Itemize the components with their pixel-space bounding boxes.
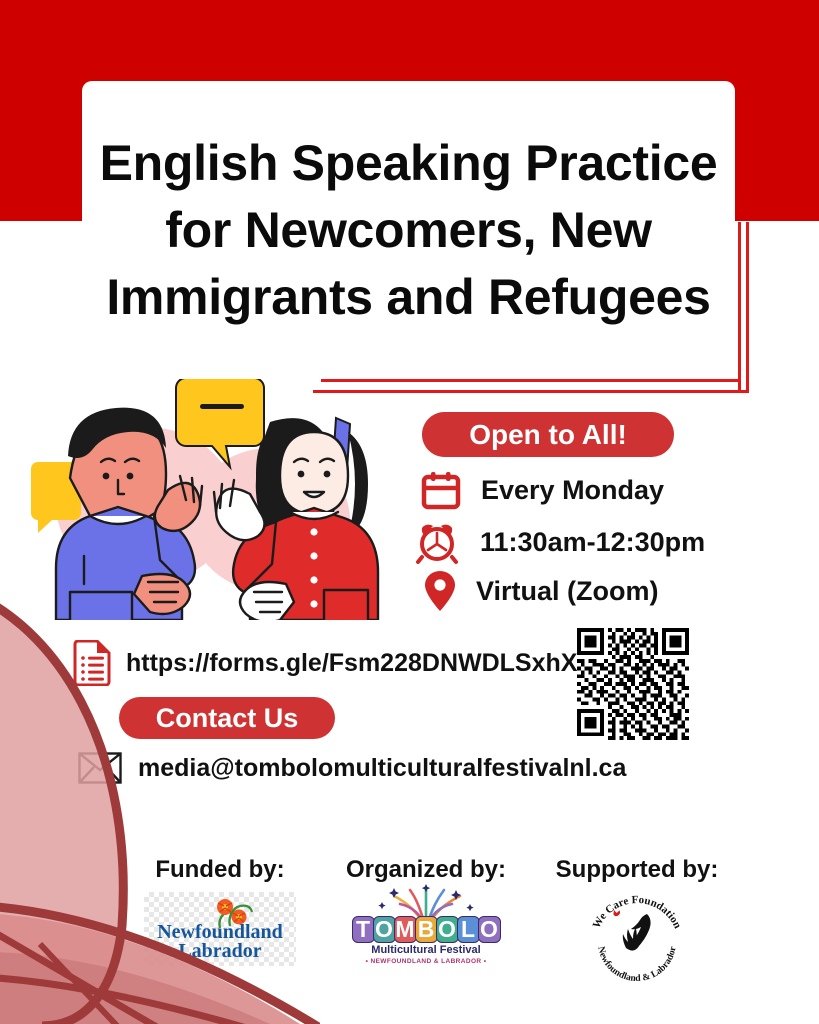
newfoundland-labrador-logo: Newfoundland Labrador [144, 892, 296, 966]
detail-row-date: Every Monday [421, 470, 664, 510]
open-to-all-badge: Open to All! [422, 412, 674, 457]
alarm-clock-icon [414, 519, 460, 565]
title-card: English Speaking Practice for Newcomers,… [82, 81, 735, 379]
nl-logo-wordmark: Newfoundland Labrador [144, 923, 296, 962]
poster-canvas: English Speaking Practice for Newcomers,… [0, 0, 819, 1024]
detail-time-text: 11:30am-12:30pm [480, 527, 705, 558]
open-to-all-label: Open to All! [469, 419, 627, 451]
organized-by-caption: Organized by: [326, 856, 526, 884]
contact-us-badge: Contact Us [119, 697, 335, 739]
detail-date-text: Every Monday [481, 475, 664, 506]
detail-row-time: 11:30am-12:30pm [414, 519, 705, 565]
detail-location-text: Virtual (Zoom) [476, 576, 659, 607]
detail-row-location: Virtual (Zoom) [424, 570, 659, 612]
page-title: English Speaking Practice for Newcomers,… [82, 130, 735, 331]
contact-us-label: Contact Us [156, 703, 299, 734]
footer-logos: Funded by: Newfoundland Labrador [0, 856, 819, 1024]
nl-logo-line2: Labrador [144, 942, 296, 962]
tombolo-festival-logo: TOMBOLO Multicultural Festival • NEWFOUN… [346, 888, 506, 968]
footer-col-funded-by: Funded by: Newfoundland Labrador [120, 856, 320, 966]
footer-col-organized-by: Organized by: [326, 856, 526, 968]
funded-by-caption: Funded by: [120, 856, 320, 884]
email-row[interactable]: media@tombolomulticulturalfestivalnl.ca [78, 752, 626, 784]
decor-vline-right-1 [738, 222, 741, 392]
supported-by-caption: Supported by: [528, 856, 746, 884]
form-document-icon [72, 640, 112, 686]
location-pin-icon [424, 570, 456, 612]
tombolo-subtitle: Multicultural Festival [346, 944, 506, 956]
envelope-icon [78, 752, 122, 784]
we-care-foundation-logo: We Care Foundation Newfoundland & Labrad… [584, 888, 690, 988]
tombolo-region: • NEWFOUNDLAND & LABRADOR • [346, 958, 506, 965]
two-people-conversation-illustration [18, 370, 398, 620]
registration-link-row[interactable]: https://forms.gle/Fsm228DNWDLSxhXm6 [72, 640, 614, 686]
tombolo-wordmark: TOMBOLO [346, 916, 506, 943]
qr-code[interactable] [577, 628, 689, 740]
footer-col-supported-by: Supported by: We Care Foundation Newfoun… [528, 856, 746, 988]
registration-url[interactable]: https://forms.gle/Fsm228DNWDLSxhXm6 [126, 649, 614, 678]
decor-vline-right-2 [746, 222, 749, 392]
contact-email[interactable]: media@tombolomulticulturalfestivalnl.ca [138, 754, 626, 783]
calendar-icon [421, 470, 461, 510]
we-care-hands-graphic: We Care Foundation Newfoundland & Labrad… [584, 888, 690, 988]
svg-text:Newfoundland & Labrador: Newfoundland & Labrador [595, 945, 679, 984]
